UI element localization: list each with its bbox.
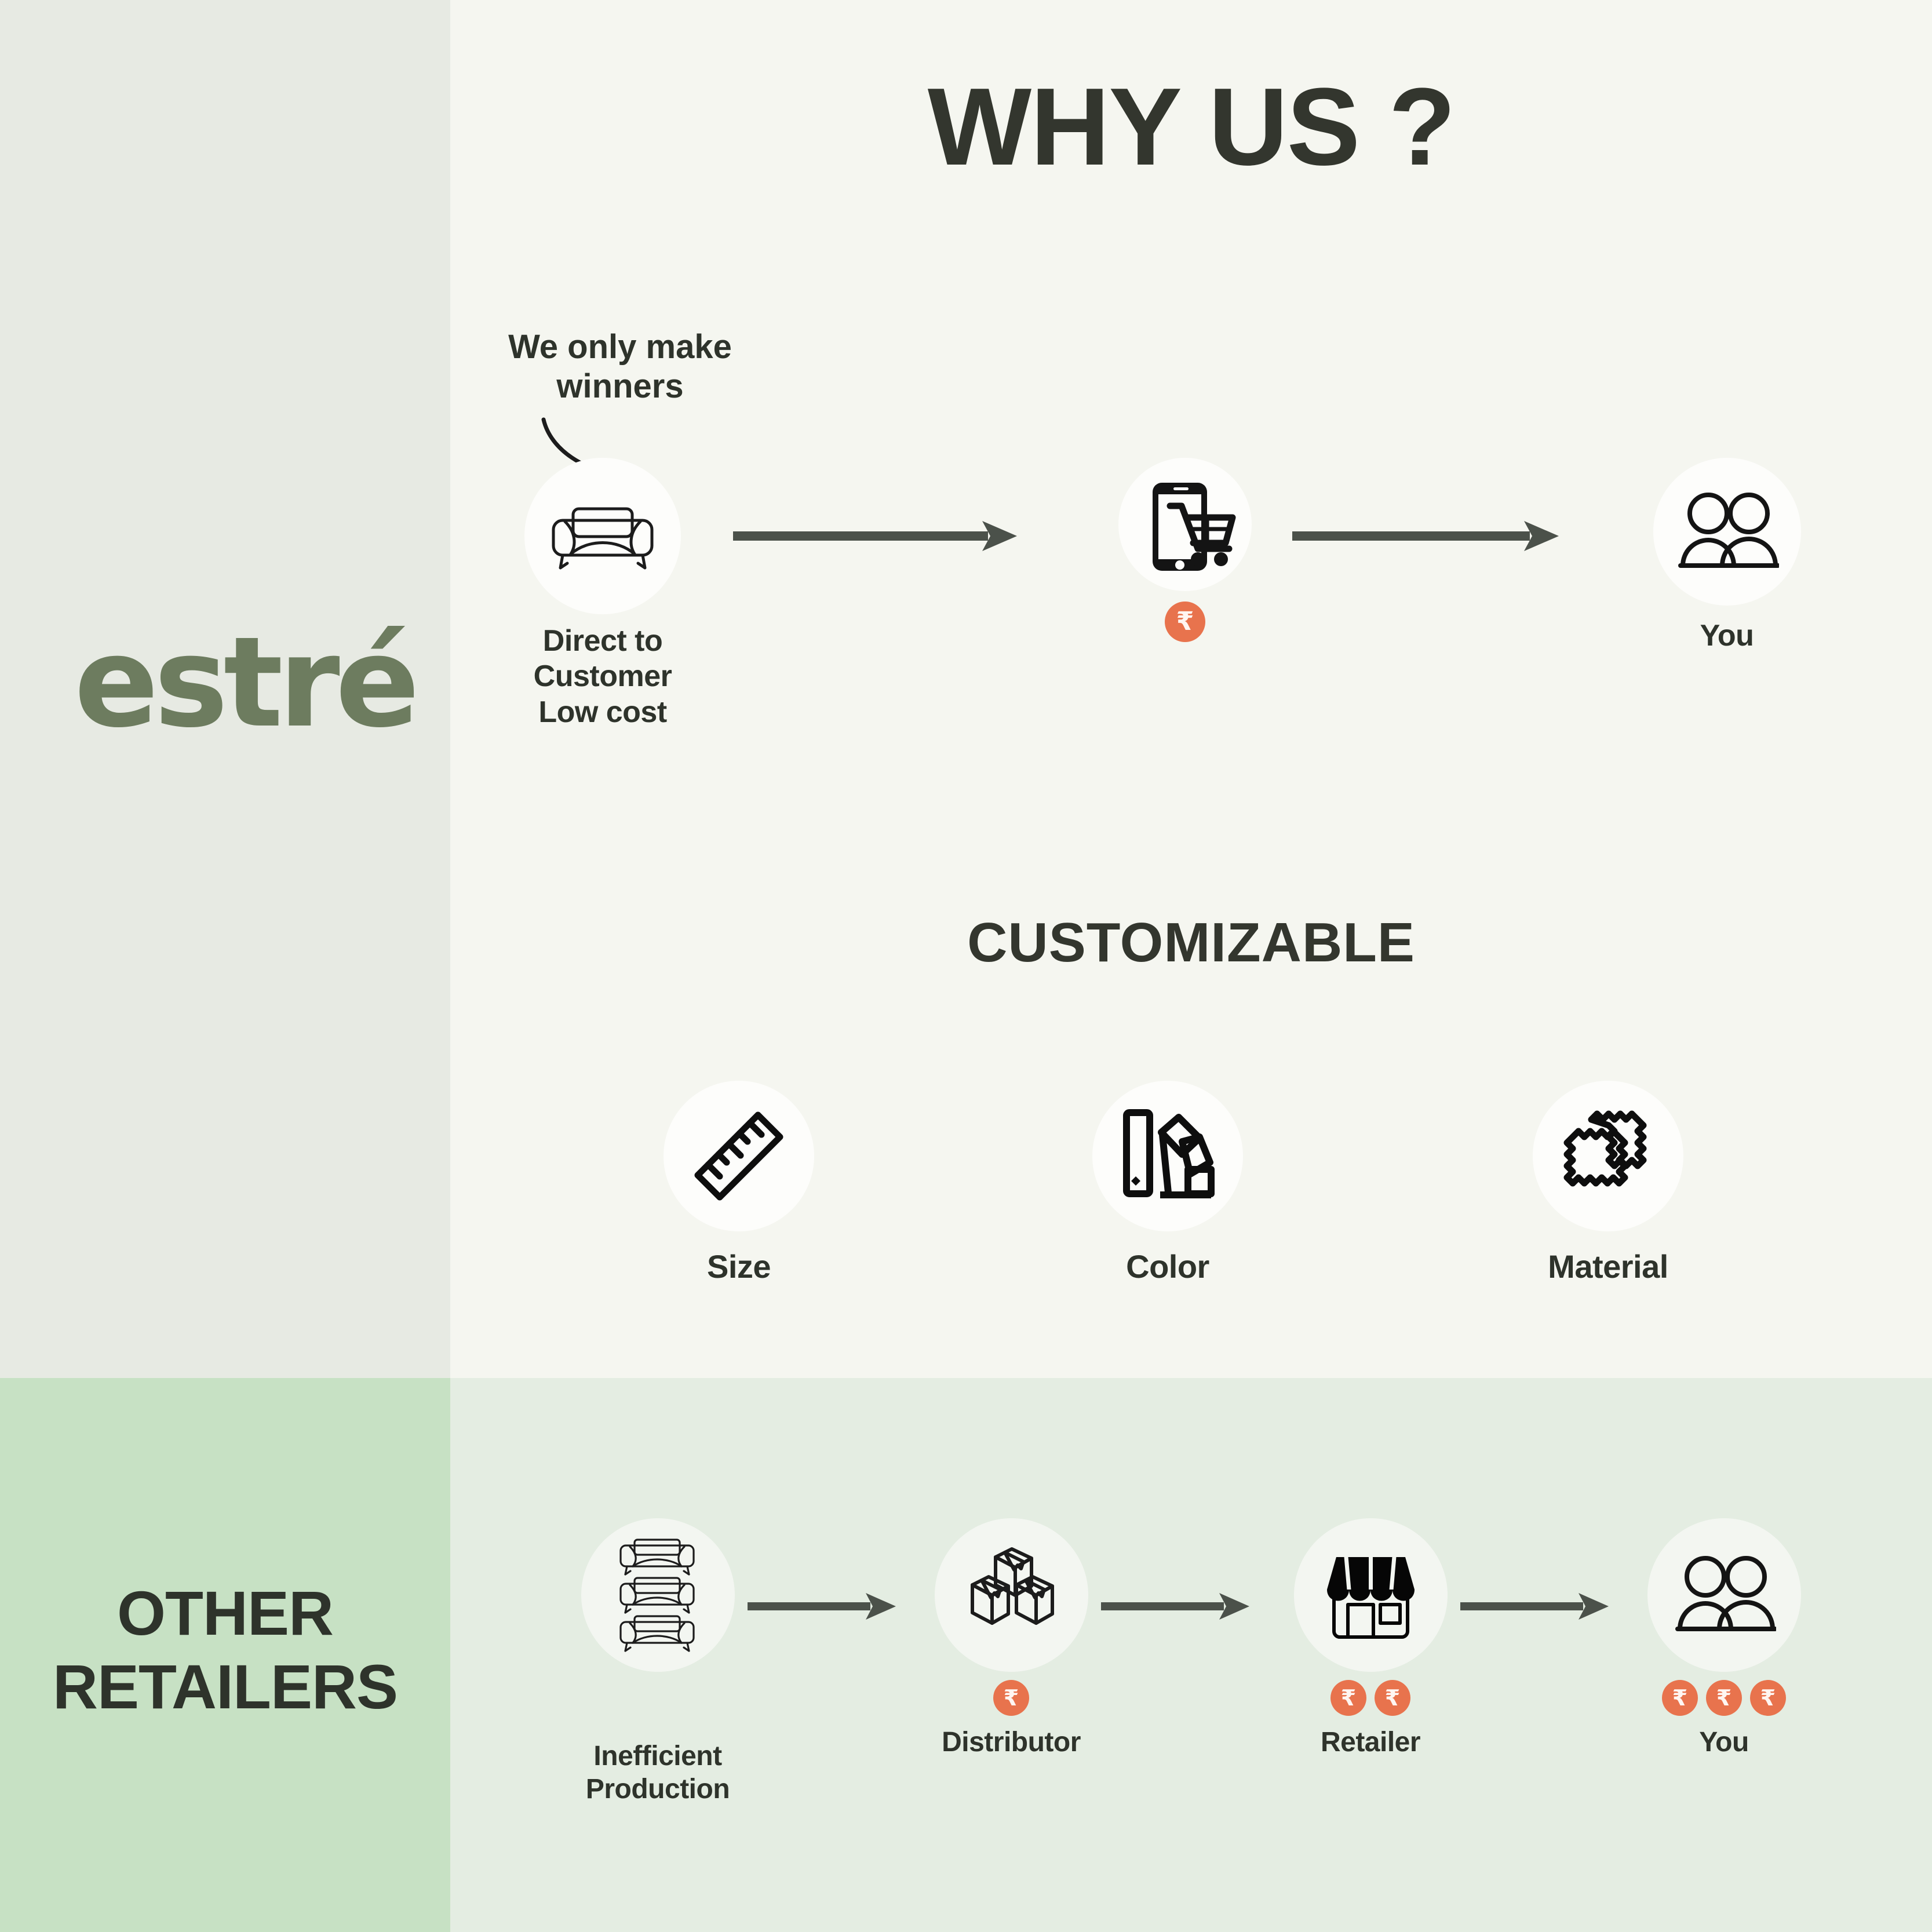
three-sofas-icon [581,1518,735,1672]
other-retailers-line-2: RETAILERS [0,1650,450,1723]
rupee-badge: ₹ [1662,1680,1698,1716]
retailer-node-label: You [1637,1726,1811,1759]
retailer-flow-node-you: ₹ ₹ ₹ You [1637,1518,1811,1759]
two-people-icon [1653,458,1801,606]
flow-arrow-icon [1101,1591,1252,1622]
retailer-flow-node-retailer: ₹ ₹ Retailer [1284,1518,1457,1759]
color-swatch-icon [1092,1081,1243,1231]
customizable-item-material: Material [1521,1081,1695,1286]
flow-arrow-icon [748,1591,898,1622]
rupee-badge: ₹ [1165,602,1205,642]
rupee-badge: ₹ [993,1680,1029,1716]
retailer-node-label: Distributor [924,1726,1098,1759]
retailer-node-cost-badges: ₹ ₹ ₹ [1637,1680,1811,1716]
callout-note: We only make winners [484,327,756,407]
retailer-node-label-line-1: Distributor [924,1726,1098,1759]
retailer-node-label: Inefficient Production [571,1740,745,1806]
page-title: WHY US ? [450,64,1932,190]
customizable-item-label: Color [1081,1248,1255,1286]
flow-arrow-icon [1292,519,1565,553]
other-retailers-line-1: OTHER [0,1576,450,1650]
estre-flow-node-mobile-shop: ₹ [1095,458,1275,642]
shop-icon [1294,1518,1448,1672]
retailer-node-cost-badges: ₹ ₹ [1284,1680,1457,1716]
other-retailers-heading: OTHER RETAILERS [0,1576,450,1724]
customizable-heading: CUSTOMIZABLE [450,911,1932,975]
sofa-icon [524,458,681,614]
retailer-node-label-line-1: Inefficient [571,1740,745,1773]
estre-node-label: Direct to Customer Low cost [510,624,695,730]
retailer-node-label: Retailer [1284,1726,1457,1759]
estre-node-label: You [1637,618,1817,654]
two-people-icon [1647,1518,1801,1672]
estre-node-cost-badges: ₹ [1095,602,1275,642]
estre-node-label-line-2: Low cost [510,695,695,730]
retailer-flow-node-production: Inefficient Production [571,1518,745,1806]
customizable-item-label: Material [1521,1248,1695,1286]
retailer-node-label-line-1: Retailer [1284,1726,1457,1759]
estre-node-label-line-1: You [1637,618,1817,654]
customizable-item-color: Color [1081,1081,1255,1286]
rupee-badge: ₹ [1706,1680,1742,1716]
callout-note-line-2: winners [484,367,756,406]
estre-flow-node-sofa: Direct to Customer Low cost [510,458,695,730]
retailer-flow-node-distributor: ₹ Distributor [924,1518,1098,1759]
rupee-badge: ₹ [1750,1680,1786,1716]
callout-note-line-1: We only make [484,327,756,367]
customizable-item-size: Size [652,1081,826,1286]
flow-arrow-icon [1460,1591,1611,1622]
retailer-node-label-line-2: Production [571,1773,745,1806]
retailer-node-label-line-1: You [1637,1726,1811,1759]
estre-node-label-line-1: Direct to Customer [510,624,695,695]
fabric-swatch-icon [1533,1081,1683,1231]
retailer-node-cost-badges: ₹ [924,1680,1098,1716]
mobile-cart-icon [1118,458,1252,591]
rupee-badge: ₹ [1375,1680,1410,1716]
rupee-badge: ₹ [1330,1680,1366,1716]
flow-arrow-icon [733,519,1023,553]
ruler-icon [664,1081,814,1231]
boxes-icon [935,1518,1088,1672]
estre-flow-node-you: You [1637,458,1817,654]
customizable-item-label: Size [652,1248,826,1286]
infographic-canvas: estré OTHER RETAILERS WHY US ? We only m… [0,0,1932,1932]
brand-logo: estré [74,620,415,745]
brand-logo-text: estré [74,610,415,755]
